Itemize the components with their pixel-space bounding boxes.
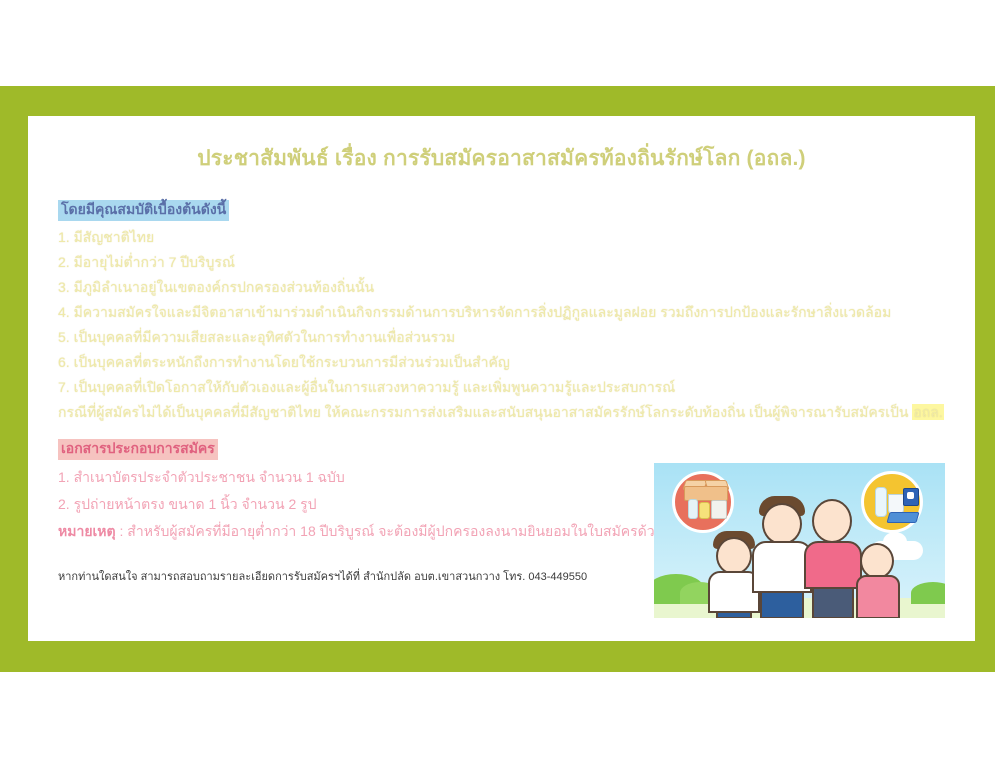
qualification-item: 7. เป็นบุคคลที่เปิดโอกาสให้กับตัวเองและผ… — [58, 380, 958, 394]
document-item: 1. สำเนาบัตรประจำตัวประชาชน จำนวน 1 ฉบับ — [58, 470, 698, 484]
shirt — [752, 541, 812, 593]
family-recycling-illustration — [654, 463, 945, 618]
closing-note-text: กรณีที่ผู้สมัครไม่ได้เป็นบุคคลที่มีสัญชา… — [58, 404, 912, 420]
cup-icon — [888, 494, 904, 514]
dress — [856, 575, 900, 618]
poster-green-frame: ประชาสัมพันธ์ เรื่อง การรับสมัครอาสาสมัค… — [0, 86, 995, 672]
book-icon — [886, 512, 919, 523]
thought-bubble-waste-icon — [672, 471, 734, 533]
contact-info: หากท่านใดสนใจ สามารถสอบถามรายละเอียดการร… — [58, 567, 587, 585]
poster-white-sheet: ประชาสัมพันธ์ เรื่อง การรับสมัครอาสาสมัค… — [28, 116, 975, 641]
head — [812, 499, 852, 543]
qualification-item: 4. มีความสมัครใจและมีจิตอาสาเข้ามาร่วมดำ… — [58, 305, 958, 319]
documents-section: เอกสารประกอบการสมัคร 1. สำเนาบัตรประจำตั… — [58, 439, 698, 538]
qualification-item: 2. มีอายุไม่ต่ำกว่า 7 ปีบริบูรณ์ — [58, 255, 958, 269]
bottle-icon — [699, 502, 710, 519]
qualification-item: 5. เป็นบุคคลที่มีความเสียสละและอุทิศตัวใ… — [58, 330, 958, 344]
pants — [812, 587, 854, 618]
page-title: ประชาสัมพันธ์ เรื่อง การรับสมัครอาสาสมัค… — [28, 142, 975, 175]
qualifications-section: โดยมีคุณสมบัติเบื้องต้นดังนี้ 1. มีสัญชา… — [58, 200, 958, 419]
documents-note-text: : สำหรับผู้สมัครที่มีอายุต่ำกว่า 18 ปีบร… — [116, 523, 663, 539]
plastic-bottle-icon — [875, 487, 887, 517]
qualifications-heading: โดยมีคุณสมบัติเบื้องต้นดังนี้ — [58, 200, 229, 221]
poster-page: ประชาสัมพันธ์ เรื่อง การรับสมัครอาสาสมัค… — [0, 0, 1003, 775]
qualification-item: 1. มีสัญชาติไทย — [58, 230, 958, 244]
bush-icon — [911, 582, 945, 604]
shirt — [804, 541, 862, 589]
qualification-item: 3. มีภูมิลำเนาอยู่ในเขตองค์กรปกครองส่วนท… — [58, 280, 958, 294]
qualification-item: 6. เป็นบุคคลที่ตระหนักถึงการทำงานโดยใช้ก… — [58, 355, 958, 369]
head — [860, 543, 894, 579]
paper-stack-icon — [711, 500, 727, 519]
documents-note: หมายเหตุ : สำหรับผู้สมัครที่มีอายุต่ำกว่… — [58, 524, 698, 538]
documents-note-label: หมายเหตุ — [58, 523, 116, 539]
head — [762, 503, 802, 545]
qualifications-closing-note: กรณีที่ผู้สมัครไม่ได้เป็นบุคคลที่มีสัญชา… — [58, 405, 958, 419]
pants — [716, 611, 752, 618]
bottle-icon — [688, 499, 698, 519]
closing-note-highlight: อถล. — [912, 404, 943, 420]
blue-carton-icon — [903, 488, 919, 506]
thought-bubble-recycle-icon — [861, 471, 923, 533]
document-item: 2. รูปถ่ายหน้าตรง ขนาด 1 นิ้ว จำนวน 2 รู… — [58, 497, 698, 511]
documents-heading: เอกสารประกอบการสมัคร — [58, 439, 218, 460]
head — [716, 537, 752, 575]
pants — [760, 591, 804, 618]
